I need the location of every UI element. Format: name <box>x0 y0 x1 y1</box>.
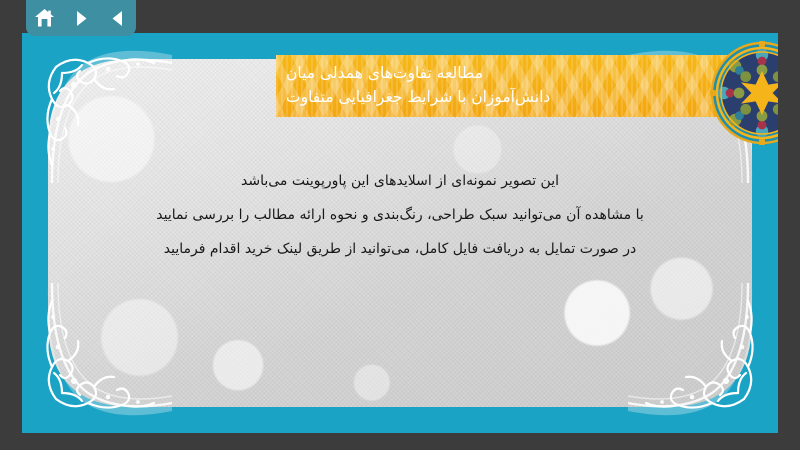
body-text-line-3: در صورت تمایل به دریافت فایل کامل، می‌تو… <box>82 233 718 267</box>
slide-title-line-1: مطالعه تفاوت‌های همدلی میان <box>286 62 483 86</box>
next-slide-button[interactable] <box>68 6 94 30</box>
banner-title-area: مطالعه تفاوت‌های همدلی میان دانش‌آموزان … <box>276 55 728 117</box>
slide-canvas: مطالعه تفاوت‌های همدلی میان دانش‌آموزان … <box>22 33 778 433</box>
persian-medallion-icon <box>710 41 778 145</box>
previous-slide-button[interactable] <box>105 6 131 30</box>
home-button[interactable] <box>31 6 57 30</box>
slide-title-banner: مطالعه تفاوت‌های همدلی میان دانش‌آموزان … <box>276 55 754 117</box>
slide-navigation-bar <box>26 0 136 36</box>
slide-viewer: مطالعه تفاوت‌های همدلی میان دانش‌آموزان … <box>0 0 800 450</box>
body-text-line-2: با مشاهده آن می‌توانید سبک طراحی، رنگ‌بن… <box>82 199 718 233</box>
forward-arrow-icon <box>72 9 91 28</box>
body-text-line-1: این تصویر نمونه‌ای از اسلایدهای این پاور… <box>82 165 718 199</box>
back-arrow-icon <box>108 9 127 28</box>
slide-title-line-2: دانش‌آموزان با شرایط جغرافیایی متفاوت <box>286 86 550 110</box>
home-icon <box>34 8 55 28</box>
slide-body-text: این تصویر نمونه‌ای از اسلایدهای این پاور… <box>82 165 718 267</box>
